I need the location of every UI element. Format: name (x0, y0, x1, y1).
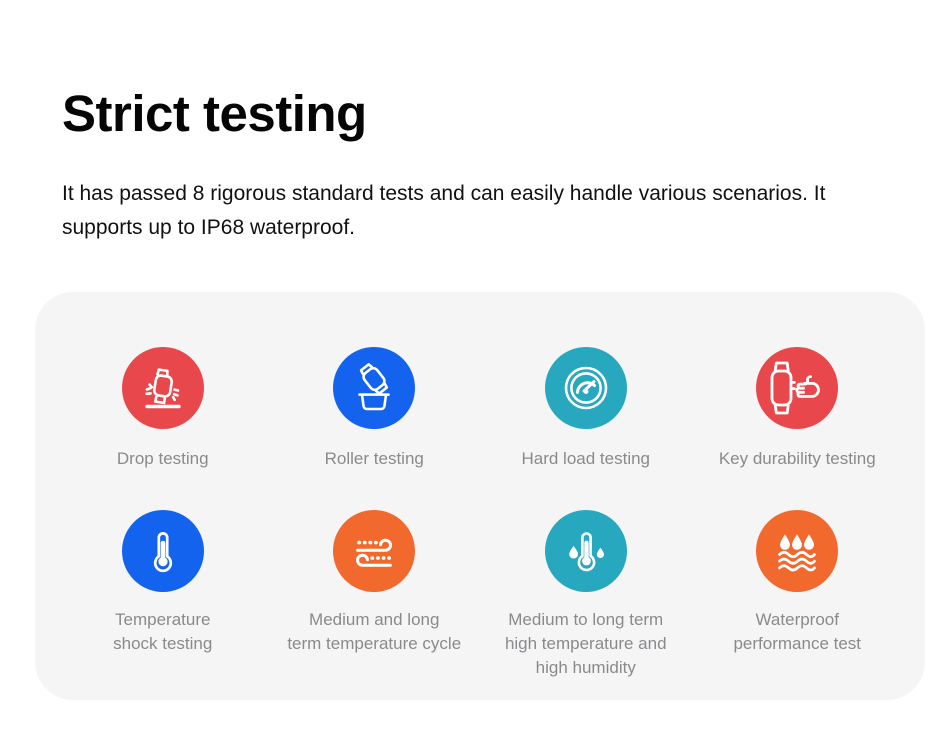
test-item-label: Medium to long term high temperature and… (505, 608, 667, 680)
key-durability-icon-badge (756, 347, 838, 429)
test-card: Drop testing (35, 292, 925, 700)
roller-testing-icon-badge (333, 347, 415, 429)
test-item-drop-testing[interactable]: Drop testing (57, 347, 269, 510)
drop-testing-icon-badge (122, 347, 204, 429)
gauge-speedometer-icon (559, 361, 613, 415)
page-title: Strict testing (62, 86, 367, 142)
test-item-hard-load-testing[interactable]: Hard load testing (480, 347, 692, 510)
strict-testing-page: Strict testing It has passed 8 rigorous … (0, 0, 950, 753)
watch-press-finger-icon (765, 358, 829, 418)
wind-airflow-icon (348, 525, 400, 577)
test-item-temperature-shock-testing[interactable]: Temperature shock testing (57, 510, 269, 700)
temperature-shock-icon-badge (122, 510, 204, 592)
high-temp-humidity-icon-badge (545, 510, 627, 592)
hard-load-testing-icon-badge (545, 347, 627, 429)
temperature-cycle-icon-badge (333, 510, 415, 592)
test-item-label: Drop testing (117, 447, 209, 471)
thermometer-humidity-icon (560, 525, 612, 577)
watch-tumbler-drum-icon (347, 361, 401, 415)
watch-drop-impact-icon (136, 361, 190, 415)
page-subtitle: It has passed 8 rigorous standard tests … (62, 177, 852, 245)
test-item-waterproof-performance[interactable]: Waterproof performance test (692, 510, 904, 700)
test-item-roller-testing[interactable]: Roller testing (269, 347, 481, 510)
test-item-high-temp-humidity[interactable]: Medium to long term high temperature and… (480, 510, 692, 700)
test-item-label: Medium and long term temperature cycle (287, 608, 461, 656)
test-item-label: Temperature shock testing (113, 608, 212, 656)
test-item-temperature-cycle[interactable]: Medium and long term temperature cycle (269, 510, 481, 700)
thermometer-icon (138, 526, 188, 576)
test-grid: Drop testing (35, 292, 925, 700)
water-drops-waves-icon (771, 525, 823, 577)
test-item-key-durability-testing[interactable]: Key durability testing (692, 347, 904, 510)
test-item-label: Waterproof performance test (733, 608, 861, 656)
test-item-label: Roller testing (325, 447, 424, 471)
test-item-label: Key durability testing (719, 447, 876, 471)
test-item-label: Hard load testing (521, 447, 650, 471)
waterproof-icon-badge (756, 510, 838, 592)
